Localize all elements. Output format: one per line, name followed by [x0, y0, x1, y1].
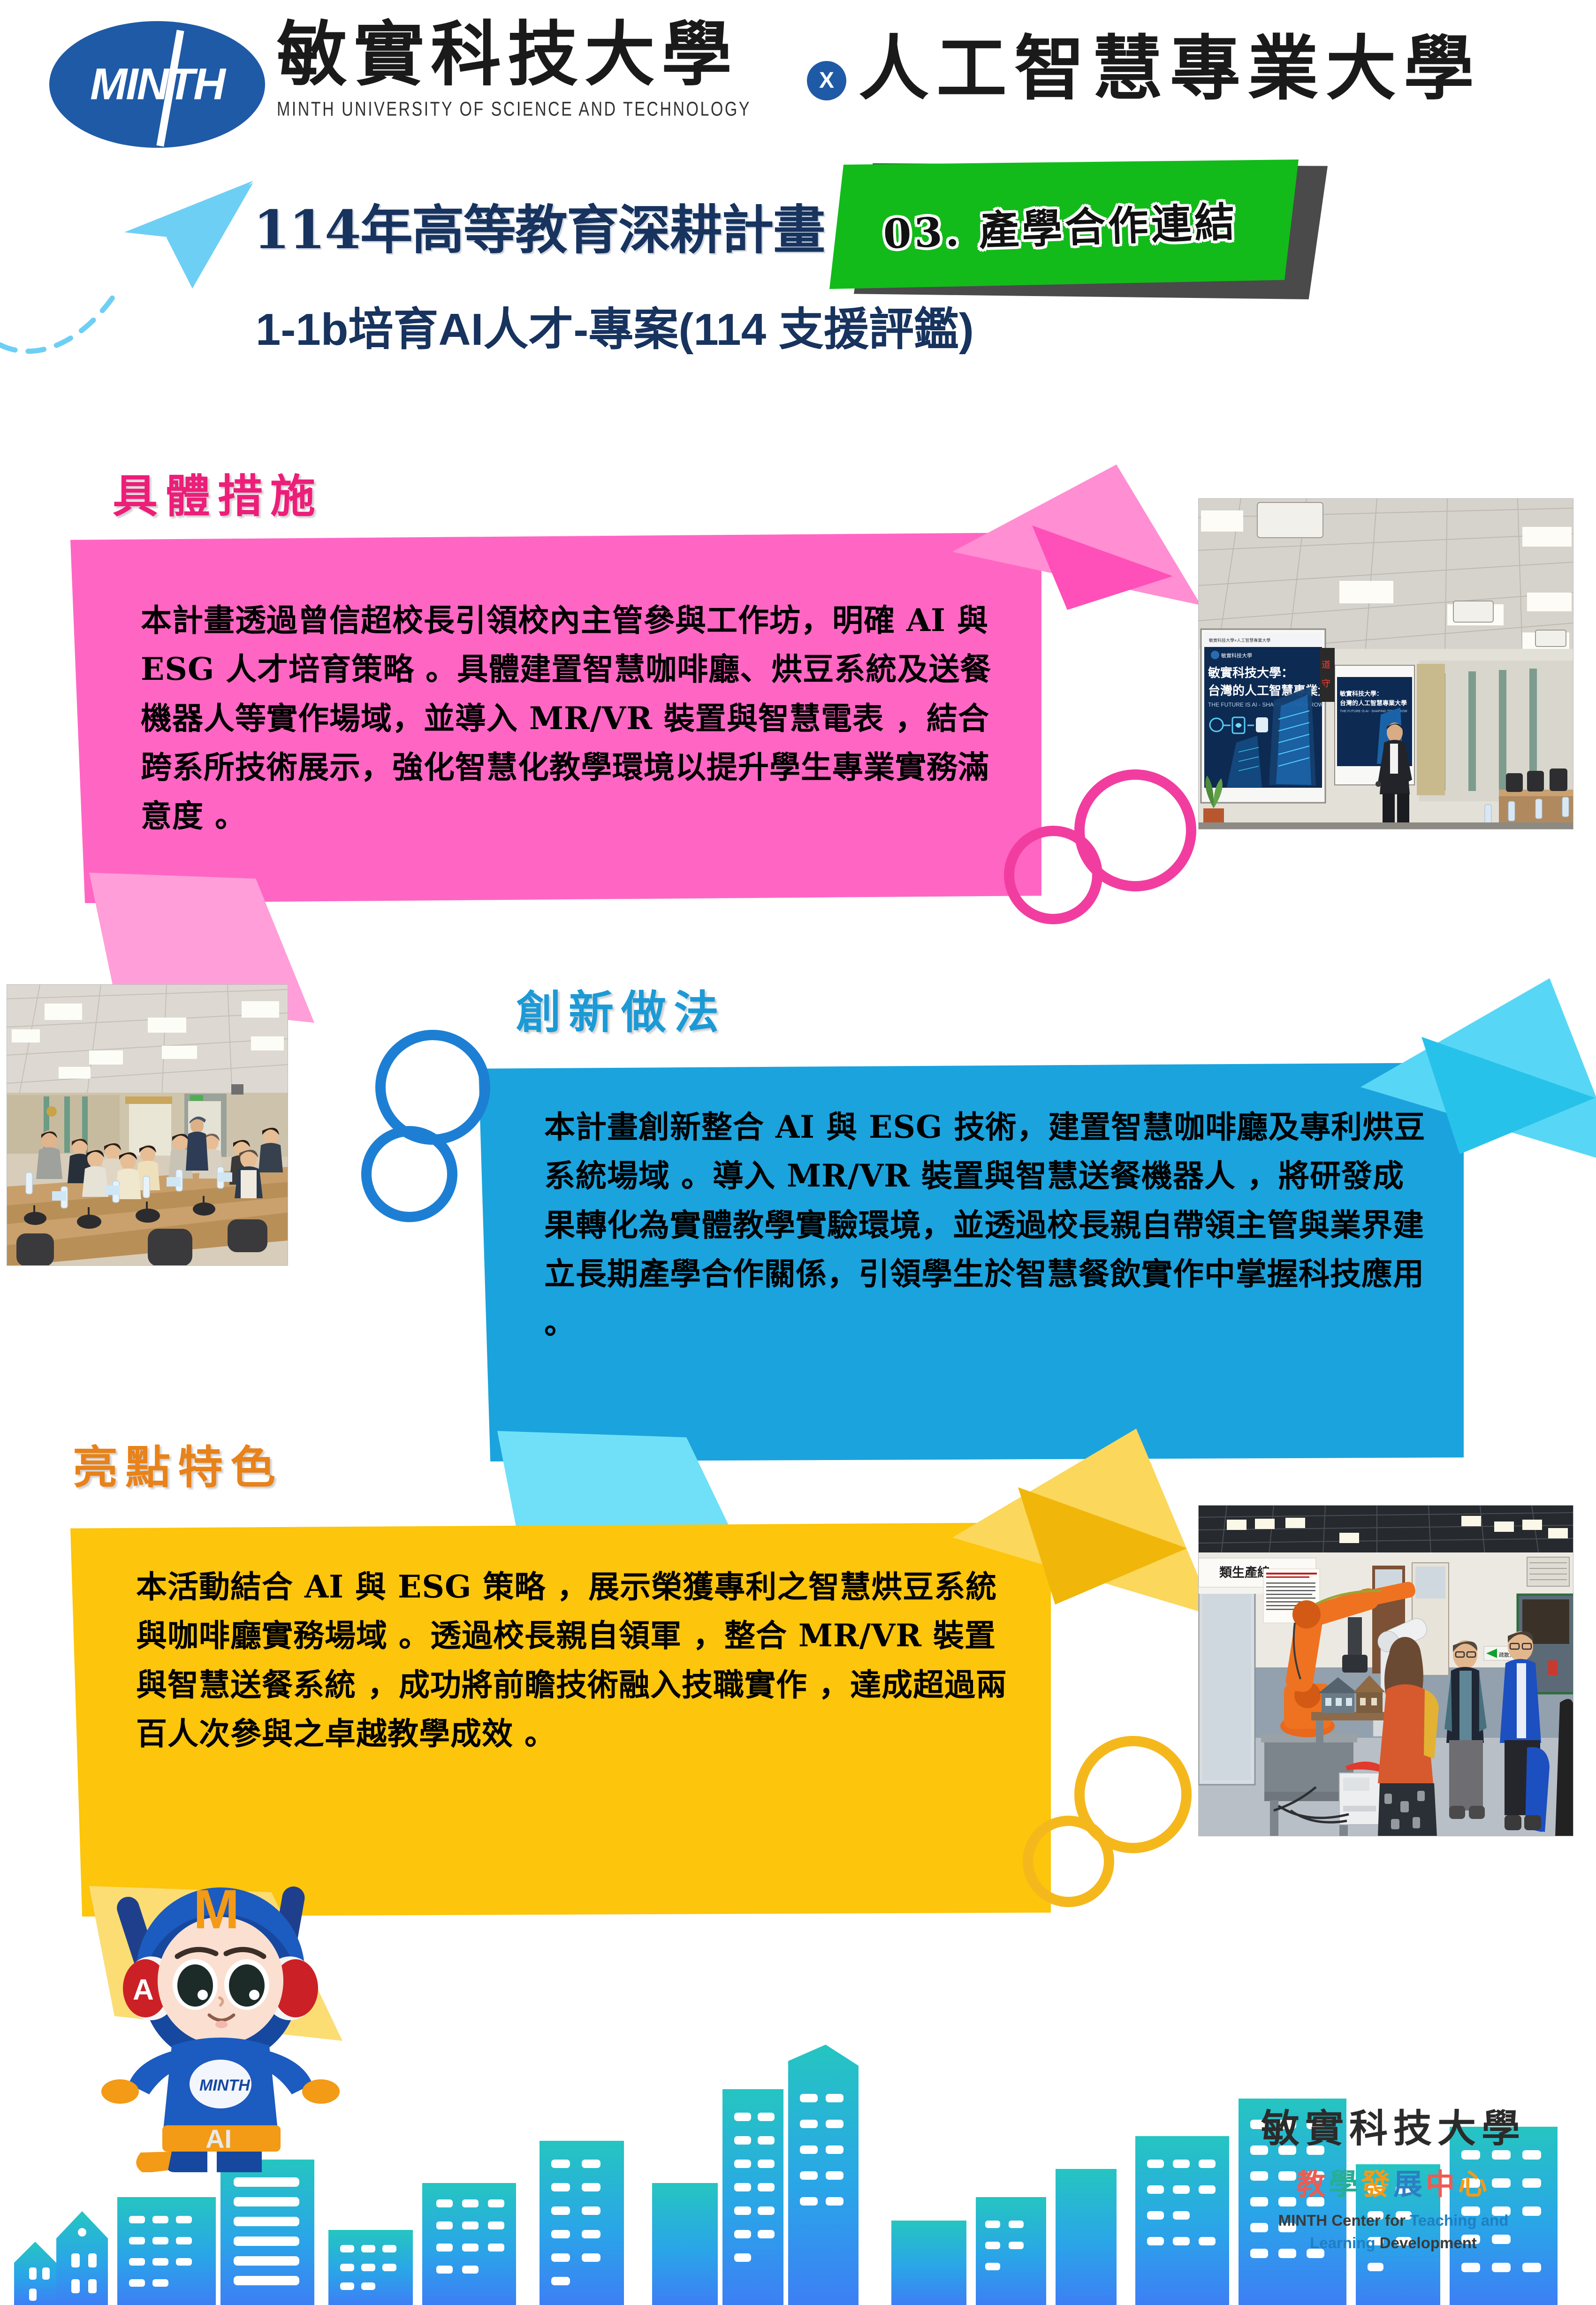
svg-text:台灣的人工智慧專業大學: 台灣的人工智慧專業大學	[1340, 700, 1407, 707]
plane-dashed-trail-icon	[0, 263, 160, 357]
footer-en-plain-1: MINTH Center for	[1278, 2212, 1410, 2229]
section-heading-highlight-features: 亮點特色	[73, 1431, 283, 1496]
university-name-en: MINTH UNIVERSITY OF SCIENCE AND TECHNOLO…	[277, 98, 807, 121]
footer-center-char: 學	[1329, 2167, 1361, 2201]
page-title: 1-1b培育AI人才-專案(114 支援評鑑)	[256, 300, 1053, 360]
footer-en-hi-2: Learning	[1310, 2234, 1380, 2252]
footer-center-name: 教學發展中心	[1220, 2160, 1567, 2203]
mascot-chest-logo: MINTH	[199, 2077, 251, 2094]
svg-text:敏實科技大學: 敏實科技大學	[1221, 652, 1252, 659]
mascot-minth-ai-character: A M MINTH AI	[80, 1872, 371, 2172]
decorative-circle-blue-small	[361, 1126, 457, 1222]
partner-university-name-cn: 人工智慧專業大學	[859, 12, 1482, 114]
category-tag: 03. 產學合作連結	[826, 160, 1342, 300]
footer-center-char: 教	[1296, 2167, 1329, 2201]
section-heading-innovative-approach: 創新做法	[516, 976, 726, 1041]
footer-en-plain-2: Development	[1380, 2234, 1477, 2252]
program-label: 114年高等教育深耕計畫	[253, 188, 825, 264]
university-name-block: 敏實科技大學 MINTH UNIVERSITY OF SCIENCE AND T…	[277, 14, 807, 116]
photo-robot-production-lab: 智慧製造工程系 類生產線 疏散方向	[1198, 1505, 1573, 1836]
poster-header: MINTH 敏實科技大學 MINTH UNIVERSITY OF SCIENCE…	[0, 0, 1596, 160]
minth-logo-text: MINTH	[49, 59, 265, 110]
section-body-specific-measures: 本計畫透過曾信超校長引領校內主管參與工作坊，明確 AI 與 ESG 人才培育策略…	[141, 596, 1013, 840]
decorative-circle-yellow-small	[1023, 1816, 1114, 1907]
footer-center-char: 中	[1426, 2167, 1458, 2201]
photo-conference-room-workshop	[7, 984, 288, 1266]
footer-university-name: 敏實科技大學	[1220, 2097, 1567, 2153]
svg-text:道: 道	[1322, 660, 1330, 670]
minth-logo: MINTH	[49, 21, 265, 148]
decorative-circle-pink-large	[1074, 769, 1196, 891]
svg-text:敏實科技大學：: 敏實科技大學：	[1208, 666, 1293, 680]
mascot-belt-label: AI	[205, 2124, 232, 2153]
footer-center-char: 展	[1393, 2167, 1426, 2201]
svg-text:類生產線: 類生產線	[1219, 1565, 1270, 1580]
section-specific-measures: 具體措施 本計畫透過曾信超校長引領校內主管參與工作坊，明確 AI 與 ESG 人…	[0, 460, 1173, 999]
svg-text:敏實科技大學：: 敏實科技大學：	[1339, 690, 1383, 697]
section-heading-specific-measures: 具體措施	[113, 460, 323, 525]
svg-text:敏實科技大學×人工智慧專業大學: 敏實科技大學×人工智慧專業大學	[1209, 638, 1270, 643]
svg-text:守: 守	[1322, 678, 1330, 689]
cross-symbol-icon: X	[807, 61, 846, 100]
university-name-cn: 敏實科技大學	[277, 14, 807, 95]
category-tag-label: 03. 產學合作連結	[823, 152, 1297, 297]
footer-logo: 敏實科技大學 教學發展中心 MINTH Center for Teaching …	[1220, 2097, 1567, 2254]
footer-center-char: 心	[1458, 2167, 1490, 2201]
mascot-ear-letter: A	[133, 1974, 154, 2006]
footer-center-name-en: MINTH Center for Teaching and Learning D…	[1220, 2209, 1567, 2254]
photo-presentation-hall: 敏實科技大學×人工智慧專業大學 敏實科技大學 敏實科技大學： 台灣的人工智慧專業…	[1198, 498, 1573, 829]
footer-center-char: 發	[1361, 2167, 1393, 2201]
section-body-innovative-approach: 本計畫創新整合 AI 與 ESG 技術，建置智慧咖啡廳及專利烘豆系統場域 。導入…	[544, 1103, 1431, 1347]
decorative-circle-blue-large	[375, 1030, 490, 1145]
mascot-helmet-letter: M	[193, 1879, 239, 1940]
section-body-highlight-features: 本活動結合 AI 與 ESG 策略 ，展示榮獲專利之智慧烘豆系統與咖啡廳實務場域…	[136, 1562, 1018, 1758]
footer-en-hi-1: Teaching and	[1410, 2212, 1508, 2229]
